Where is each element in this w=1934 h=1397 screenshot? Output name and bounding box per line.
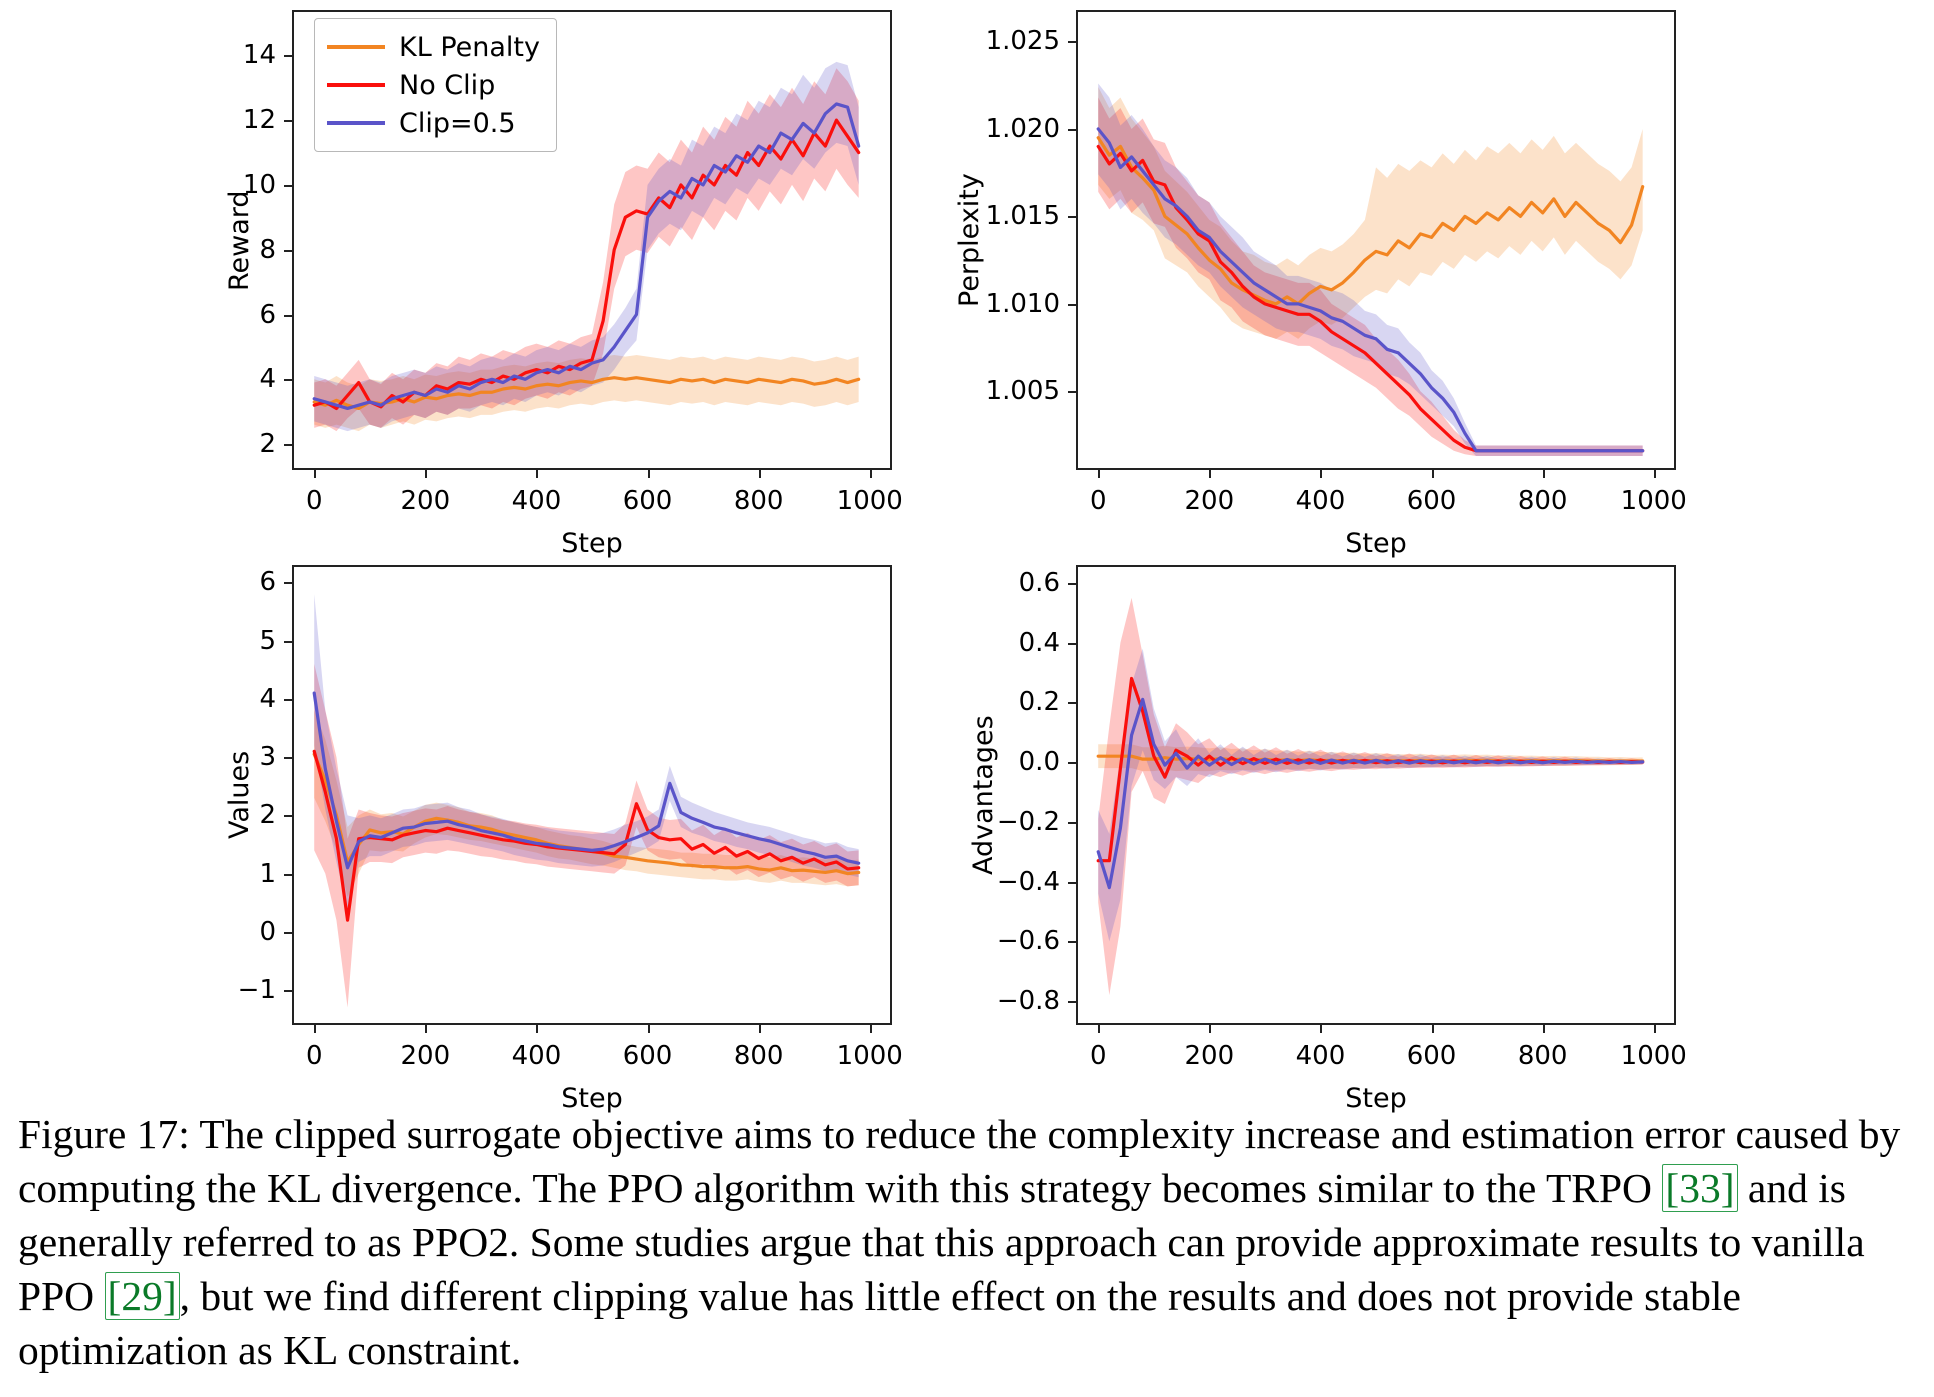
x-tick-label-advantages-3: 600	[1407, 1041, 1457, 1071]
y-tickmark	[1068, 1001, 1076, 1003]
y-tick-label-reward-5: 12	[243, 105, 276, 135]
y-tickmark	[284, 120, 292, 122]
y-tick-label-advantages-5: 0.2	[1019, 687, 1060, 717]
chart-panel-reward: KL Penalty No Clip Clip=0.5 Reward Step …	[292, 10, 892, 470]
x-tick-label-advantages-1: 200	[1185, 1041, 1235, 1071]
x-tick-label-values-0: 0	[306, 1041, 323, 1071]
y-tickmark	[1068, 304, 1076, 306]
y-tick-label-reward-0: 2	[259, 429, 276, 459]
y-tickmark	[284, 815, 292, 817]
x-tickmark	[648, 1025, 650, 1033]
x-tickmark	[1320, 470, 1322, 478]
y-tick-label-perplexity-2: 1.015	[986, 201, 1060, 231]
x-tick-label-reward-1: 200	[401, 486, 451, 516]
x-tick-label-perplexity-5: 1000	[1621, 486, 1687, 516]
y-tick-label-advantages-3: −0.2	[997, 807, 1060, 837]
y-tick-label-reward-6: 14	[243, 40, 276, 70]
x-tick-label-values-3: 600	[623, 1041, 673, 1071]
caption-text-1: The clipped surrogate objective aims to …	[18, 1111, 1900, 1211]
plot-area-values	[292, 565, 892, 1025]
x-tickmark	[314, 1025, 316, 1033]
y-tickmark	[284, 55, 292, 57]
y-tickmark	[1068, 41, 1076, 43]
x-tickmark	[536, 470, 538, 478]
plot-area-advantages	[1076, 565, 1676, 1025]
x-tickmark	[870, 470, 872, 478]
chart-panel-values: Values Step −1012345602004006008001000	[292, 565, 892, 1025]
caption-figure-label: Figure 17:	[18, 1111, 190, 1157]
y-tick-label-perplexity-1: 1.010	[986, 289, 1060, 319]
x-tickmark	[1432, 1025, 1434, 1033]
x-tick-label-values-4: 800	[734, 1041, 784, 1071]
band-clip-0-5	[1098, 649, 1642, 942]
y-tick-label-reward-2: 6	[259, 300, 276, 330]
x-tickmark	[1543, 470, 1545, 478]
x-tickmark	[1320, 1025, 1322, 1033]
y-tick-label-advantages-0: −0.8	[997, 986, 1060, 1016]
x-axis-label-perplexity: Step	[1076, 528, 1676, 559]
y-tickmark	[284, 990, 292, 992]
y-tickmark	[284, 185, 292, 187]
y-tickmark	[284, 379, 292, 381]
x-axis-label-reward: Step	[292, 528, 892, 559]
x-tick-label-perplexity-3: 600	[1407, 486, 1457, 516]
y-axis-label-reward: Reward	[224, 190, 255, 291]
y-tickmark	[1068, 129, 1076, 131]
y-tickmark	[1068, 643, 1076, 645]
x-tickmark	[759, 470, 761, 478]
x-tickmark	[1209, 470, 1211, 478]
y-tick-label-advantages-6: 0.4	[1019, 628, 1060, 658]
y-tickmark	[284, 874, 292, 876]
y-tick-label-perplexity-0: 1.005	[986, 376, 1060, 406]
y-tick-label-values-2: 1	[259, 859, 276, 889]
x-tickmark	[648, 470, 650, 478]
x-tick-label-values-5: 1000	[837, 1041, 903, 1071]
legend-swatch-clip05	[327, 121, 385, 125]
x-tickmark	[1432, 470, 1434, 478]
y-tickmark	[284, 757, 292, 759]
y-tick-label-perplexity-3: 1.020	[986, 114, 1060, 144]
x-tick-label-perplexity-1: 200	[1185, 486, 1235, 516]
legend-entry-kl-penalty: KL Penalty	[327, 28, 540, 66]
plot-area-perplexity	[1076, 10, 1676, 470]
x-tick-label-reward-0: 0	[306, 486, 323, 516]
band-no-clip	[1098, 598, 1642, 995]
y-tickmark	[284, 315, 292, 317]
y-tick-label-values-3: 2	[259, 800, 276, 830]
x-tickmark	[1654, 1025, 1656, 1033]
x-tick-label-reward-5: 1000	[837, 486, 903, 516]
x-tickmark	[1209, 1025, 1211, 1033]
x-tick-label-perplexity-0: 0	[1090, 486, 1107, 516]
x-tick-label-reward-4: 800	[734, 486, 784, 516]
y-tickmark	[284, 582, 292, 584]
x-tick-label-advantages-0: 0	[1090, 1041, 1107, 1071]
y-tick-label-reward-1: 4	[259, 364, 276, 394]
x-tickmark	[425, 470, 427, 478]
y-axis-label-advantages: Advantages	[968, 715, 999, 875]
y-tick-label-advantages-1: −0.6	[997, 926, 1060, 956]
legend-reward: KL Penalty No Clip Clip=0.5	[314, 18, 557, 152]
x-tick-label-perplexity-4: 800	[1518, 486, 1568, 516]
x-tick-label-advantages-2: 400	[1296, 1041, 1346, 1071]
y-tick-label-reward-4: 10	[243, 170, 276, 200]
y-tick-label-values-7: 6	[259, 567, 276, 597]
y-tickmark	[284, 641, 292, 643]
legend-swatch-kl-penalty	[327, 45, 385, 49]
chart-panel-perplexity: Perplexity Step 1.0051.0101.0151.0201.02…	[1076, 10, 1676, 470]
y-tick-label-values-0: −1	[238, 975, 276, 1005]
y-tickmark	[1068, 702, 1076, 704]
x-tick-label-reward-3: 600	[623, 486, 673, 516]
x-tickmark	[314, 470, 316, 478]
x-tickmark	[870, 1025, 872, 1033]
y-tickmark	[1068, 391, 1076, 393]
figure-caption: Figure 17: The clipped surrogate objecti…	[18, 1108, 1918, 1378]
chart-panel-advantages: Advantages Step −0.8−0.6−0.4−0.20.00.20.…	[1076, 565, 1676, 1025]
x-tickmark	[1098, 470, 1100, 478]
y-tick-label-advantages-2: −0.4	[997, 867, 1060, 897]
x-tick-label-reward-2: 400	[512, 486, 562, 516]
y-tick-label-reward-3: 8	[259, 235, 276, 265]
y-tickmark	[284, 932, 292, 934]
x-tickmark	[536, 1025, 538, 1033]
legend-label-no-clip: No Clip	[399, 70, 495, 101]
y-tick-label-values-4: 3	[259, 742, 276, 772]
legend-label-kl-penalty: KL Penalty	[399, 32, 540, 63]
y-tickmark	[284, 444, 292, 446]
citation-29[interactable]: [29]	[105, 1272, 180, 1320]
y-tickmark	[1068, 941, 1076, 943]
caption-text-3: , but we find different clipping value h…	[18, 1273, 1741, 1373]
y-tickmark	[284, 250, 292, 252]
x-tickmark	[1098, 1025, 1100, 1033]
legend-swatch-no-clip	[327, 83, 385, 87]
y-axis-label-perplexity: Perplexity	[954, 173, 985, 307]
legend-entry-no-clip: No Clip	[327, 66, 540, 104]
x-tick-label-perplexity-2: 400	[1296, 486, 1346, 516]
y-tick-label-values-5: 4	[259, 684, 276, 714]
legend-entry-clip05: Clip=0.5	[327, 104, 540, 142]
y-tick-label-perplexity-4: 1.025	[986, 26, 1060, 56]
y-axis-label-values: Values	[224, 751, 255, 839]
y-tickmark	[1068, 216, 1076, 218]
figure-17-container: KL Penalty No Clip Clip=0.5 Reward Step …	[0, 0, 1934, 1397]
y-tickmark	[284, 699, 292, 701]
x-tick-label-advantages-4: 800	[1518, 1041, 1568, 1071]
y-tick-label-advantages-4: 0.0	[1019, 747, 1060, 777]
x-tickmark	[425, 1025, 427, 1033]
y-tickmark	[1068, 583, 1076, 585]
citation-33[interactable]: [33]	[1662, 1164, 1737, 1212]
y-tick-label-values-1: 0	[259, 917, 276, 947]
y-tickmark	[1068, 822, 1076, 824]
x-tickmark	[1654, 470, 1656, 478]
y-tickmark	[1068, 882, 1076, 884]
y-tick-label-advantages-7: 0.6	[1019, 568, 1060, 598]
y-tickmark	[1068, 762, 1076, 764]
x-tick-label-advantages-5: 1000	[1621, 1041, 1687, 1071]
x-tick-label-values-2: 400	[512, 1041, 562, 1071]
x-tickmark	[759, 1025, 761, 1033]
legend-label-clip05: Clip=0.5	[399, 108, 516, 139]
y-tick-label-values-6: 5	[259, 626, 276, 656]
x-tickmark	[1543, 1025, 1545, 1033]
subplot-grid: KL Penalty No Clip Clip=0.5 Reward Step …	[0, 0, 1934, 1105]
x-tick-label-values-1: 200	[401, 1041, 451, 1071]
